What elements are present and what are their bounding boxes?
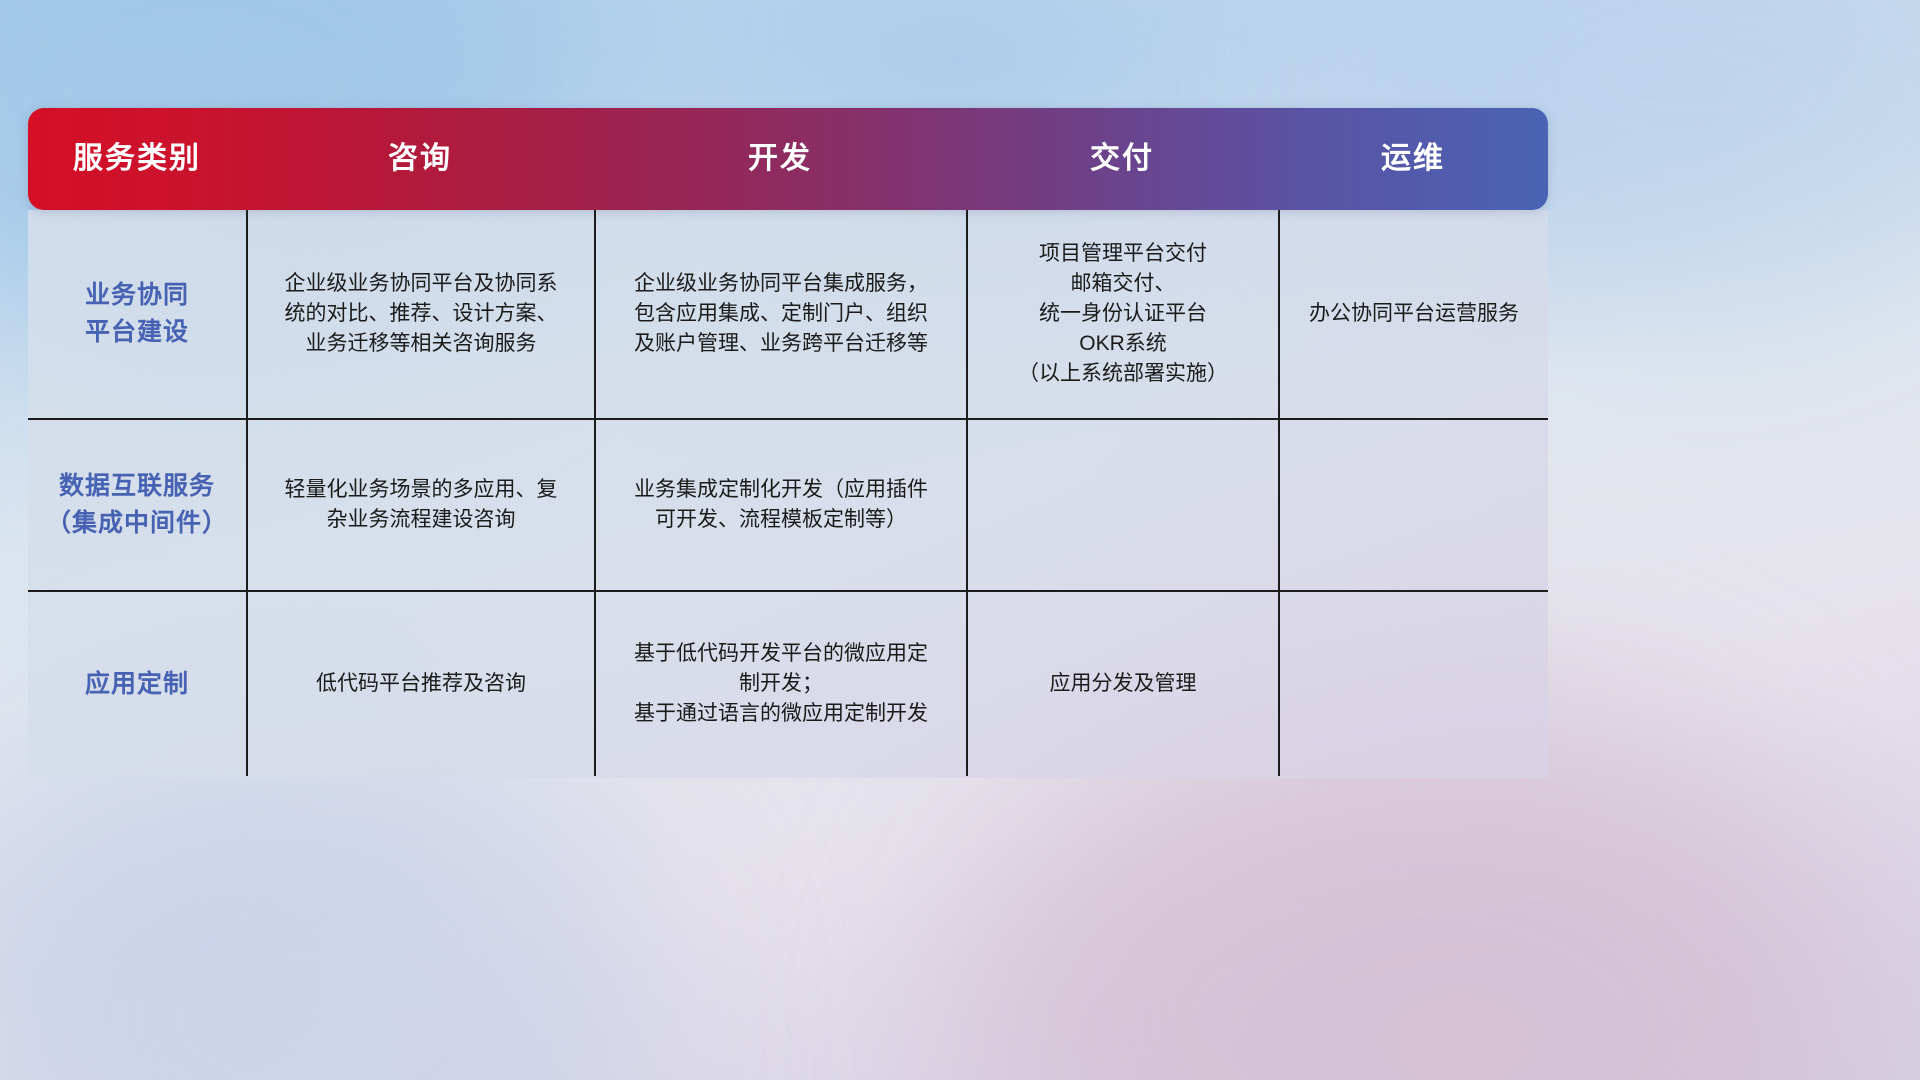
cell-development: 业务集成定制化开发（应用插件 可开发、流程模板定制等） [594, 420, 966, 590]
service-category-table: 服务类别 咨询 开发 交付 运维 业务协同 平台建设 企业级业务协同平台及协同系… [28, 108, 1548, 778]
column-header-delivery: 交付 [966, 144, 1278, 174]
table-row: 业务协同 平台建设 企业级业务协同平台及协同系 统的对比、推荐、设计方案、 业务… [28, 210, 1548, 418]
column-header-consulting: 咨询 [246, 144, 594, 174]
table-body: 业务协同 平台建设 企业级业务协同平台及协同系 统的对比、推荐、设计方案、 业务… [28, 210, 1548, 778]
column-header-development: 开发 [594, 144, 966, 174]
background-glow-bottom-left [0, 740, 660, 1080]
cell-consulting: 轻量化业务场景的多应用、复 杂业务流程建设咨询 [246, 420, 594, 590]
cell-consulting: 企业级业务协同平台及协同系 统的对比、推荐、设计方案、 业务迁移等相关咨询服务 [246, 210, 594, 418]
table-row: 数据互联服务 （集成中间件） 轻量化业务场景的多应用、复 杂业务流程建设咨询 业… [28, 418, 1548, 590]
table-header-row: 服务类别 咨询 开发 交付 运维 [28, 108, 1548, 210]
table-row: 应用定制 低代码平台推荐及咨询 基于低代码开发平台的微应用定 制开发； 基于通过… [28, 590, 1548, 776]
row-label-text: 应用定制 [85, 666, 189, 703]
row-label-cell: 业务协同 平台建设 [28, 210, 246, 418]
cell-consulting: 低代码平台推荐及咨询 [246, 592, 594, 776]
cell-development: 基于低代码开发平台的微应用定 制开发； 基于通过语言的微应用定制开发 [594, 592, 966, 776]
cell-operations [1278, 592, 1548, 776]
cell-development: 企业级业务协同平台集成服务， 包含应用集成、定制门户、组织 及账户管理、业务跨平… [594, 210, 966, 418]
row-label-cell: 应用定制 [28, 592, 246, 776]
column-header-category: 服务类别 [28, 144, 246, 174]
cell-operations [1278, 420, 1548, 590]
cell-operations: 办公协同平台运营服务 [1278, 210, 1548, 418]
cell-delivery: 应用分发及管理 [966, 592, 1278, 776]
row-label-cell: 数据互联服务 （集成中间件） [28, 420, 246, 590]
cell-delivery: 项目管理平台交付 邮箱交付、 统一身份认证平台 OKR系统 （以上系统部署实施） [966, 210, 1278, 418]
row-label-text: 数据互联服务 （集成中间件） [46, 468, 228, 542]
column-header-operations: 运维 [1278, 144, 1548, 174]
cell-delivery [966, 420, 1278, 590]
row-label-text: 业务协同 平台建设 [85, 277, 189, 351]
